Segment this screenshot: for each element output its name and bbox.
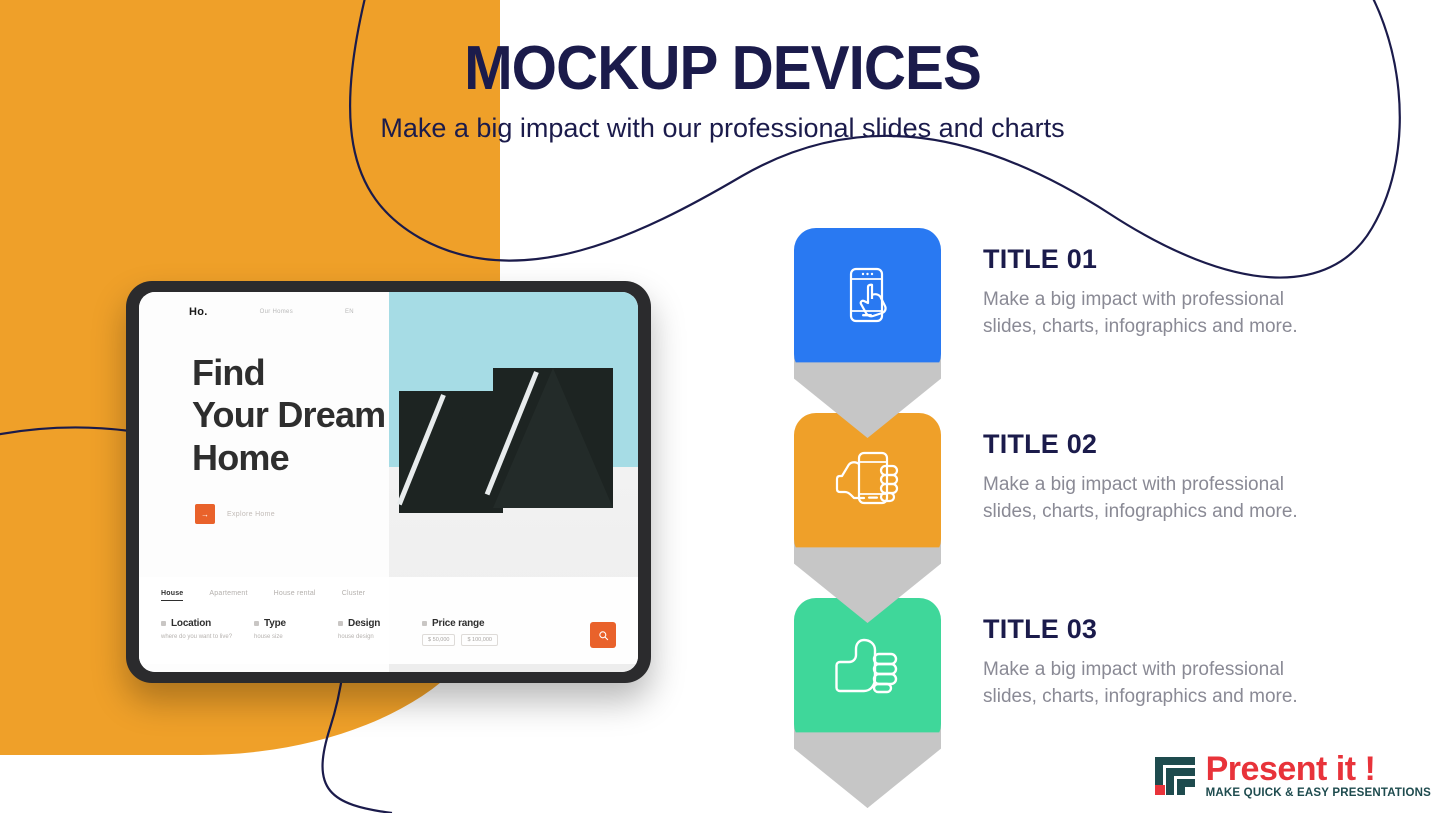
hand-holding-phone-icon: [794, 421, 941, 541]
feature-description-1: Make a big impact with professional slid…: [983, 287, 1333, 341]
site-logo: Ho.: [189, 306, 208, 318]
thumbs-up-icon: [794, 606, 941, 726]
feature-text-3: TITLE 03 Make a big impact with professi…: [983, 598, 1333, 711]
tablet-device-mockup: Ho. Our Homes EN Find Your Dream Home → …: [126, 281, 651, 683]
tab-cluster[interactable]: Cluster: [342, 590, 366, 601]
field-design[interactable]: Design house design: [338, 618, 400, 640]
search-tabs: House Apartement House rental Cluster: [161, 590, 616, 601]
explore-home-cta[interactable]: → Explore Home: [195, 504, 275, 524]
feature-description-2: Make a big impact with professional slid…: [983, 472, 1333, 526]
field-location[interactable]: Location where do you want to live?: [161, 618, 232, 640]
price-min-chip[interactable]: $ 50,000: [422, 634, 455, 646]
field-price-range[interactable]: Price range $ 50,000 $ 100,000: [422, 618, 498, 646]
layered-squares-icon: [1153, 755, 1197, 797]
page-subtitle: Make a big impact with our professional …: [0, 113, 1445, 144]
hero-heading: Find Your Dream Home: [192, 352, 385, 479]
search-fields: Location where do you want to live? Type…: [161, 618, 616, 648]
site-navbar: Ho. Our Homes EN: [139, 292, 638, 332]
type-icon: [254, 621, 259, 626]
logo-tagline: MAKE QUICK & EASY PRESENTATIONS: [1206, 787, 1431, 799]
search-icon: [598, 630, 609, 641]
property-search-panel: House Apartement House rental Cluster Lo…: [139, 577, 638, 664]
tab-apartement[interactable]: Apartement: [209, 590, 247, 601]
tab-house-rental[interactable]: House rental: [274, 590, 316, 601]
price-icon: [422, 621, 427, 626]
tab-house[interactable]: House: [161, 590, 183, 601]
feature-list: TITLE 01 Make a big impact with professi…: [794, 228, 1394, 783]
field-hint-type: house size: [254, 634, 316, 640]
brand-logo: Present it ! MAKE QUICK & EASY PRESENTAT…: [1153, 753, 1431, 799]
search-button[interactable]: [590, 622, 616, 648]
feature-item-1: TITLE 01 Make a big impact with professi…: [794, 228, 1394, 376]
arrow-right-icon: →: [195, 504, 215, 524]
design-icon: [338, 621, 343, 626]
nav-link-our-homes[interactable]: Our Homes: [260, 309, 293, 315]
field-label-design: Design: [348, 618, 380, 629]
field-label-price-range: Price range: [432, 618, 484, 629]
field-label-type: Type: [264, 618, 286, 629]
nav-link-language[interactable]: EN: [345, 309, 354, 315]
feature-title-2: TITLE 02: [983, 429, 1333, 460]
feature-item-2: TITLE 02 Make a big impact with professi…: [794, 413, 1394, 561]
feature-title-1: TITLE 01: [983, 244, 1333, 275]
feature-description-3: Make a big impact with professional slid…: [983, 657, 1333, 711]
logo-text: Present it ! MAKE QUICK & EASY PRESENTAT…: [1206, 753, 1431, 799]
feature-item-3: TITLE 03 Make a big impact with professi…: [794, 598, 1394, 746]
tablet-screen: Ho. Our Homes EN Find Your Dream Home → …: [139, 292, 638, 672]
field-type[interactable]: Type house size: [254, 618, 316, 640]
feature-text-1: TITLE 01 Make a big impact with professi…: [983, 228, 1333, 341]
location-pin-icon: [161, 621, 166, 626]
field-hint-location: where do you want to live?: [161, 634, 232, 640]
badge-1: [794, 228, 941, 376]
field-hint-design: house design: [338, 634, 400, 640]
field-label-location: Location: [171, 618, 211, 629]
phone-tap-icon: [794, 236, 941, 356]
feature-text-2: TITLE 02 Make a big impact with professi…: [983, 413, 1333, 526]
price-max-chip[interactable]: $ 100,000: [461, 634, 497, 646]
page-title: MOCKUP DEVICES: [43, 36, 1401, 101]
feature-title-3: TITLE 03: [983, 614, 1333, 645]
headline-block: MOCKUP DEVICES Make a big impact with ou…: [0, 36, 1445, 144]
slide-canvas: MOCKUP DEVICES Make a big impact with ou…: [0, 0, 1445, 813]
cta-label: Explore Home: [227, 511, 275, 518]
logo-name: Present it !: [1206, 753, 1376, 785]
